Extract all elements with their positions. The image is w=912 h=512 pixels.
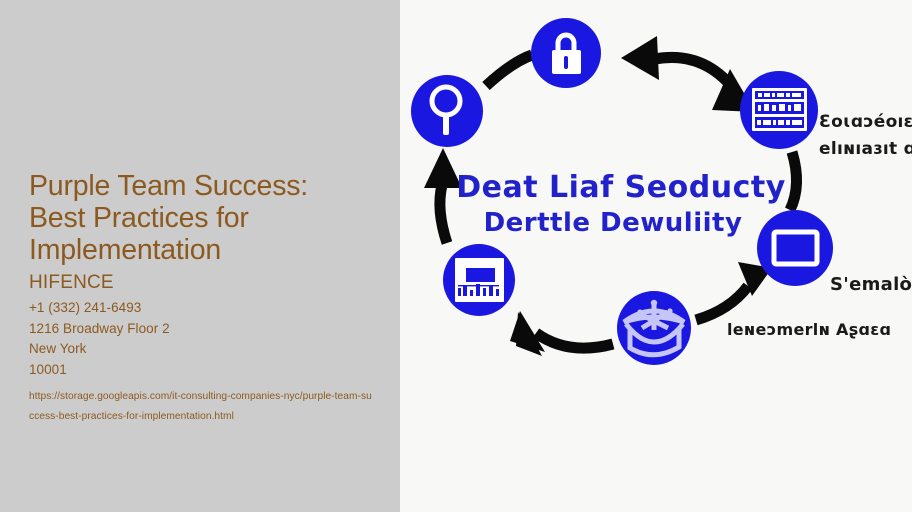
contact-city: New York [29, 339, 374, 360]
source-url: https://storage.googleapis.com/it-consul… [29, 387, 374, 427]
page-root: Purple Team Success: Best Practices for … [0, 0, 912, 512]
page-title: Purple Team Success: Best Practices for … [29, 170, 374, 266]
center-heading-line2: Derttle Dewuliity [484, 208, 743, 238]
contact-zip: 10001 [29, 360, 374, 381]
label-bottom-right: leɴeɔmerlɴ Aʂɑɛɑ [727, 320, 891, 339]
report-card-icon [752, 88, 807, 131]
left-panel-content: Purple Team Success: Best Practices for … [29, 170, 374, 427]
cycle-diagram: Deat Liaf Seoducty Derttle Dewuliity Ɛoɩ… [400, 0, 912, 512]
arrow-globe-to-monitor [696, 262, 772, 320]
node-chart[interactable] [443, 244, 515, 316]
contact-block: +1 (332) 241-6493 1216 Broadway Floor 2 … [29, 298, 374, 380]
node-report[interactable] [740, 71, 818, 149]
center-heading: Deat Liaf Seoducty Derttle Dewuliity [456, 170, 786, 238]
node-search[interactable] [411, 75, 483, 147]
label-top-right-line2: elıɴıaɜıt ɑɛ [819, 139, 912, 159]
arrow-lock-report-bidirectional [621, 36, 755, 112]
left-info-panel: Purple Team Success: Best Practices for … [0, 0, 400, 512]
node-globe[interactable] [617, 291, 691, 365]
arrow-search-to-lock [486, 55, 532, 86]
node-monitor[interactable] [757, 210, 833, 286]
illustration-panel: Deat Liaf Seoducty Derttle Dewuliity Ɛoɩ… [400, 0, 912, 512]
chart-document-icon [455, 258, 504, 302]
contact-street: 1216 Broadway Floor 2 [29, 319, 374, 340]
contact-phone: +1 (332) 241-6493 [29, 298, 374, 319]
node-lock[interactable] [531, 18, 601, 88]
arrow-globe-to-chart [510, 311, 613, 356]
arrow-report-to-monitor [790, 152, 797, 210]
center-heading-line1: Deat Liaf Seoducty [456, 170, 786, 205]
label-mid-right: S'emalò [830, 274, 912, 295]
label-top-right-line1: Ɛoɩɑɔéoıɛ [819, 112, 912, 132]
company-name: HIFENCE [29, 272, 374, 294]
